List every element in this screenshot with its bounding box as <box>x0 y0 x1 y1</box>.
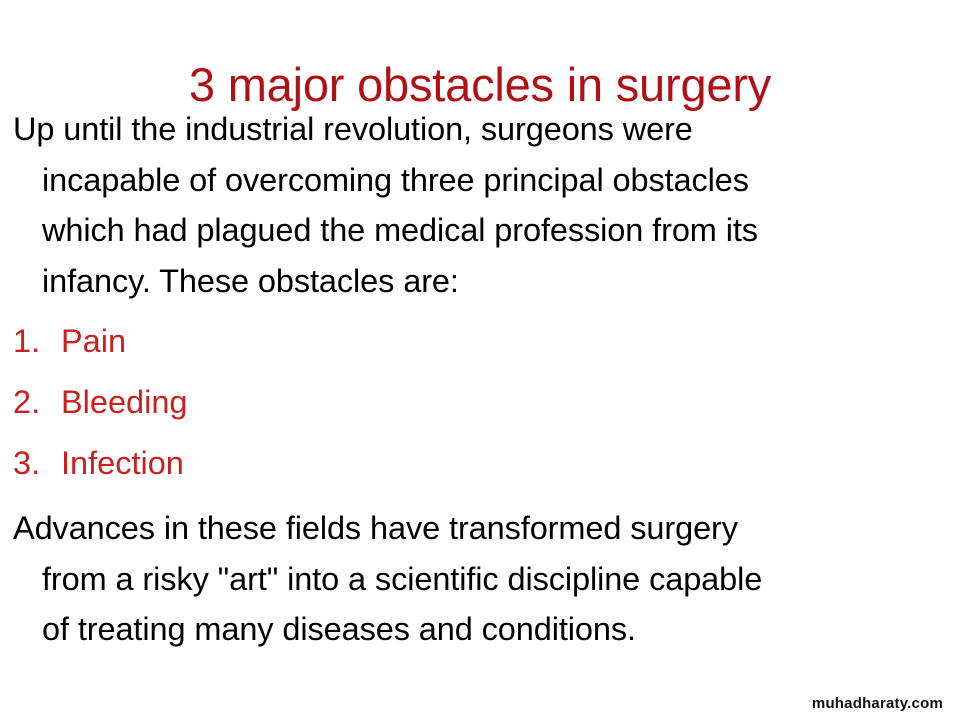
list-item-label: Infection <box>61 440 184 486</box>
closing-paragraph: Advances in these fields have transforme… <box>13 503 953 655</box>
intro-line-3: which had plagued the medical profession… <box>71 205 947 256</box>
list-item-number: 3. <box>13 440 61 486</box>
list-item-number: 1. <box>13 318 61 364</box>
list-item-label: Bleeding <box>61 379 188 425</box>
list-item: 1.Pain <box>13 318 513 379</box>
closing-line-1: Advances in these fields have transforme… <box>42 503 953 554</box>
intro-line-4: infancy. These obstacles are: <box>71 256 947 307</box>
list-item-label: Pain <box>61 318 126 364</box>
list-item: 2.Bleeding <box>13 379 513 440</box>
intro-paragraph: Up until the industrial revolution, surg… <box>13 104 947 306</box>
site-watermark: muhadharaty.com <box>812 695 943 712</box>
closing-line-2: from a risky "art" into a scientific dis… <box>71 554 953 605</box>
slide-canvas: 3 major obstacles in surgery Up until th… <box>0 0 960 720</box>
list-item: 3.Infection <box>13 440 513 501</box>
list-item-number: 2. <box>13 379 61 425</box>
intro-paragraph-text: Up until the industrial revolution, surg… <box>13 104 947 306</box>
closing-paragraph-text: Advances in these fields have transforme… <box>13 503 953 655</box>
intro-line-2: incapable of overcoming three principal … <box>71 155 947 206</box>
intro-line-1: Up until the industrial revolution, surg… <box>42 104 947 155</box>
obstacle-list: 1.Pain 2.Bleeding 3.Infection <box>13 318 513 501</box>
closing-line-3: of treating many diseases and conditions… <box>71 604 953 655</box>
